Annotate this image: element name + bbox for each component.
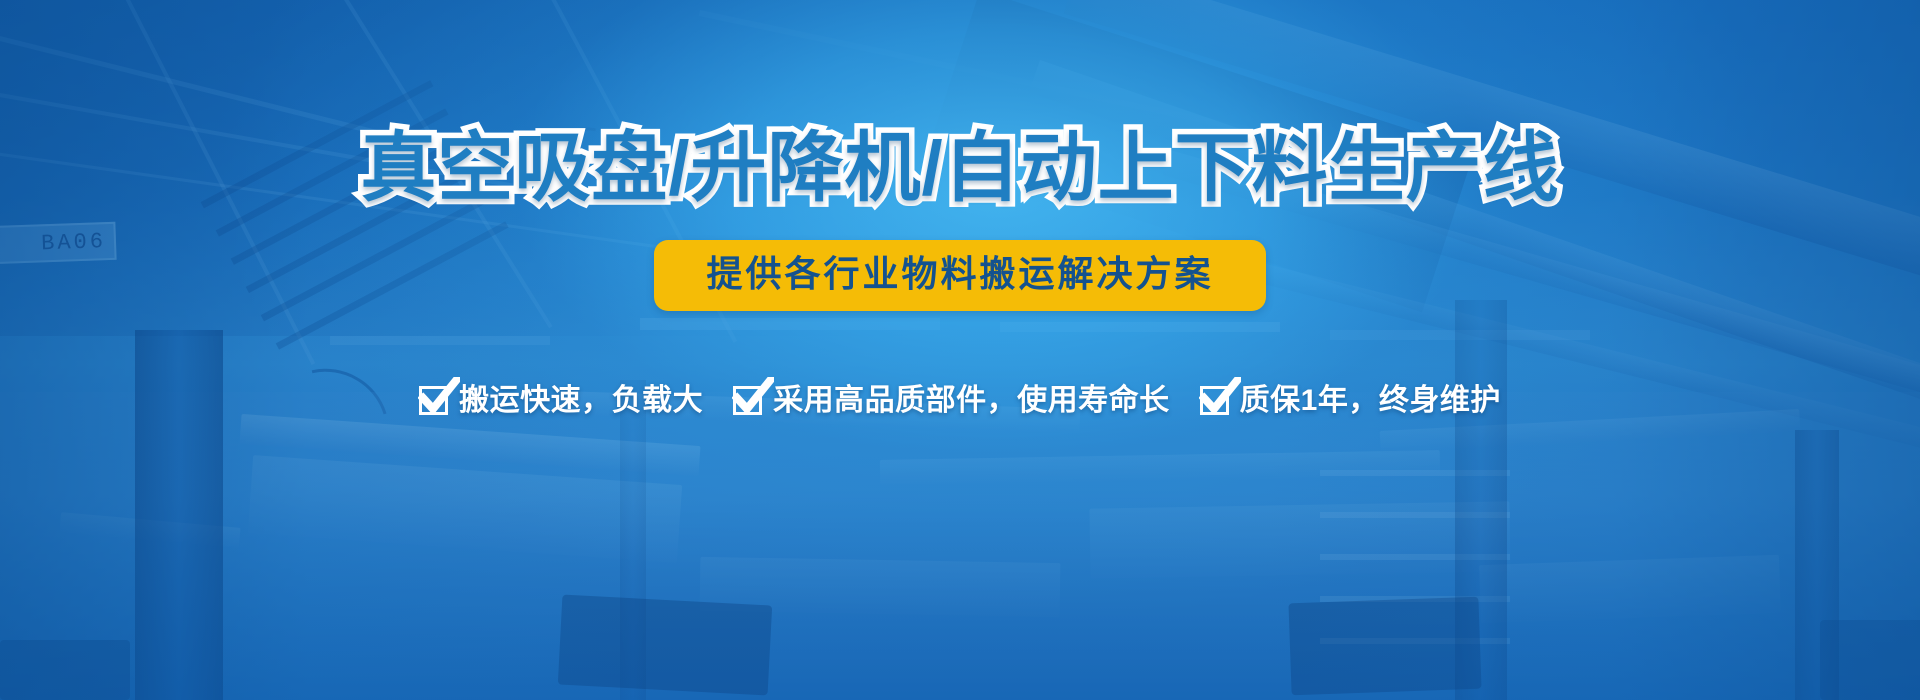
feature-item: 搬运快速，负载大 [419, 384, 703, 417]
checkbox-checked-icon [733, 384, 766, 417]
feature-item: 质保1年，终身维护 [1200, 384, 1501, 417]
feature-label: 采用高品质部件，使用寿命长 [773, 386, 1170, 416]
feature-label: 质保1年，终身维护 [1240, 386, 1501, 416]
banner-content: 真空吸盘/升降机/自动上下料生产线 提供各行业物料搬运解决方案 搬运快速，负载大 [0, 0, 1920, 700]
checkbox-checked-icon [419, 384, 452, 417]
feature-label: 搬运快速，负载大 [459, 386, 703, 416]
banner-subtitle-pill: 提供各行业物料搬运解决方案 [654, 240, 1265, 311]
feature-item: 采用高品质部件，使用寿命长 [733, 384, 1170, 417]
promo-banner: BA06 真空吸盘/升降机/自动上下料生产线 [0, 0, 1920, 700]
checkbox-checked-icon [1200, 384, 1233, 417]
feature-list: 搬运快速，负载大 采用高品质部件，使用寿命长 质保1 [419, 384, 1501, 417]
banner-headline: 真空吸盘/升降机/自动上下料生产线 [360, 131, 1559, 207]
